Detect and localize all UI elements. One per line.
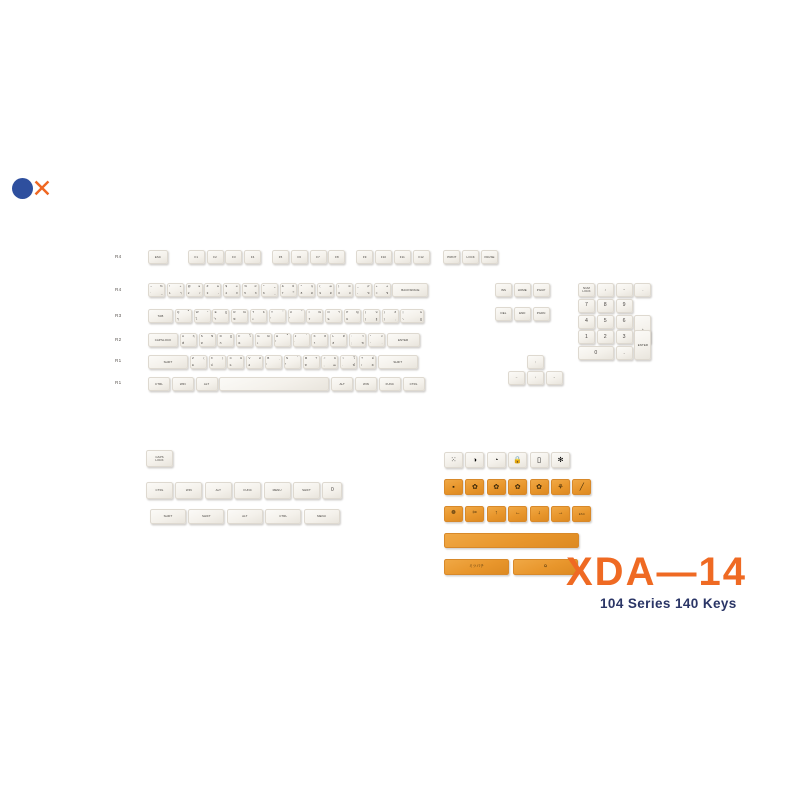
key-label: PGUP (537, 289, 546, 292)
key-numpad-4[interactable]: 4 (578, 315, 595, 329)
key-label: 🔒 (513, 457, 522, 464)
bee-dots-key[interactable]: ⁙ (444, 452, 463, 468)
esc-key[interactable]: ESC (572, 506, 591, 522)
row-profile-tag: R4 (115, 254, 121, 259)
key-legend-tl: A (182, 335, 184, 338)
key-label: SHIFT (164, 361, 173, 364)
key-`[interactable]: ~%`_ (148, 283, 165, 297)
key-n[interactable]: N์ื (284, 355, 301, 369)
key-legend-bl: อ (248, 364, 250, 367)
key-arrow-down[interactable]: ↓ (527, 371, 544, 385)
key-numpad-1[interactable]: 1 (578, 330, 595, 344)
key-legend-tl: N (286, 357, 288, 360)
key-numpad-5[interactable]: 5 (597, 315, 614, 329)
key-extra2-menu-4[interactable]: MENU (304, 509, 340, 524)
key-label: 3 (623, 335, 626, 340)
key-legend-br: _ (161, 292, 163, 295)
key-label: CTRL (410, 383, 418, 386)
key-ctrl[interactable]: CTRL (148, 377, 170, 391)
key-label: ESC (155, 256, 161, 259)
row-profile-tag: R1 (115, 380, 121, 385)
key-extra-ctrl[interactable]: CTRL (146, 482, 173, 499)
key-legend-tr: ? (316, 357, 318, 360)
key-m[interactable]: M?ท (303, 355, 320, 369)
key-extra-win[interactable]: WIN (175, 482, 202, 499)
key-label: F8 (335, 256, 339, 259)
key-legend-tr: บ (376, 311, 378, 314)
key-label: END (519, 312, 525, 315)
key-legend-tr: ( (203, 357, 204, 360)
key-legend-tl: { (365, 311, 366, 314)
key-legend-grid: J๋่ (294, 334, 309, 346)
wand-key[interactable]: ╱ (572, 479, 591, 495)
key-legend-bl: ร (309, 318, 311, 321)
key-g[interactable]: Gฌเ (255, 333, 272, 347)
key-numpad-*[interactable]: * (616, 283, 633, 297)
key-end[interactable]: END (514, 307, 531, 321)
key-f1[interactable]: F1 (188, 250, 205, 264)
key-f2[interactable]: F2 (207, 250, 224, 264)
key-label: → (553, 376, 556, 379)
key-label: ▯ (537, 457, 541, 464)
key-esc[interactable]: ESC (148, 250, 168, 264)
key-numpad-.[interactable]: . (616, 346, 633, 360)
key-label: 8 (604, 303, 607, 308)
key-extra-func[interactable]: FUNC (234, 482, 261, 499)
key-legend-br: ฬ (353, 364, 355, 367)
key-label: ✿ (493, 484, 499, 491)
key-legend-tr: ๓ (236, 285, 238, 288)
key-legend-grid: Aฤฟ (181, 334, 196, 346)
headphone-key[interactable]: ◔ (487, 452, 506, 468)
key-t[interactable]: Tธะ (250, 309, 267, 323)
key-numpad-3[interactable]: 3 (616, 330, 633, 344)
key-legend-grid: :ว;ซ (350, 334, 365, 346)
key-legend-br: / (199, 292, 200, 295)
key-legend-tr: ๔ (254, 285, 256, 288)
key-label: PAUSE (484, 256, 494, 259)
key-legend-tr: ง (381, 335, 382, 338)
row-profile-tag: R2 (115, 337, 121, 342)
key-label: F4 (251, 256, 255, 259)
key-}[interactable]: }ล], (382, 309, 399, 323)
key-o[interactable]: Oฯน (325, 309, 342, 323)
key-label: SHIFT (393, 361, 402, 364)
flower-key[interactable]: ✻ (551, 452, 570, 468)
key-label: F12 (418, 256, 423, 259)
key-legend-tr: ว (362, 335, 364, 338)
key-label: SHIFT (164, 515, 173, 518)
key-:[interactable]: :ว;ซ (349, 333, 366, 347)
key-legend-br: ฅ (372, 364, 374, 367)
key-ctrl[interactable]: CTRL (403, 377, 425, 391)
key-label: F2 (213, 256, 217, 259)
key-0[interactable]: )๘0จ (336, 283, 353, 297)
card-key[interactable]: ▯ (530, 452, 549, 468)
key-label: ENTER (398, 339, 408, 342)
key-label: ⁙ (451, 457, 457, 464)
key-4[interactable]: $๓4ภ (223, 283, 240, 297)
key-f5[interactable]: F5 (272, 250, 289, 264)
key-legend-tr: " (207, 311, 208, 314)
key-legend-bl: ๆ (177, 318, 179, 321)
bee-d-key[interactable]: ✿ (530, 479, 549, 495)
key-f11[interactable]: F11 (394, 250, 411, 264)
key-numpad--[interactable]: - (634, 283, 651, 297)
key-legend-grid: X)ป (210, 356, 225, 368)
key-label: F10 (381, 256, 386, 259)
key-legend-tl: K (314, 335, 316, 338)
key-8[interactable]: *๖8ค (298, 283, 315, 297)
key-label: ☸ (451, 511, 456, 517)
key-enter[interactable]: ENTER (387, 333, 420, 347)
key-legend-bl: ห (201, 342, 203, 345)
key-numpad-6[interactable]: 6 (616, 315, 633, 329)
key-"[interactable]: "ง'. (368, 333, 385, 347)
key-win[interactable]: WIN (172, 377, 194, 391)
key-legend-tl: X (211, 357, 213, 360)
key-extra-shift[interactable]: SHIFT (293, 482, 320, 499)
key-legend-bl: 7 (282, 292, 284, 295)
key-f10[interactable]: F10 (375, 250, 392, 264)
key-legend-br: - (218, 292, 219, 295)
key-legend-bl: ไ (196, 318, 198, 321)
key-k[interactable]: Kษา (311, 333, 328, 347)
key-legend-tr: ๑ (198, 285, 200, 288)
key-label: ✂ (473, 511, 478, 517)
key-9[interactable]: (๗9ต (317, 283, 334, 297)
row-profile-tag: R1 (115, 358, 121, 363)
key-3[interactable]: #๒3- (204, 283, 221, 297)
key-e[interactable]: Eฎำ (212, 309, 229, 323)
key-numpad-2[interactable]: 2 (597, 330, 614, 344)
key-arrow-left[interactable]: ← (508, 371, 525, 385)
key-legend-tr: ศ (343, 335, 345, 338)
key-numpad-enter[interactable]: ENTER (634, 330, 651, 360)
key-legend-tr: ฝ (372, 357, 374, 360)
arrow-down-key[interactable]: ↓ (530, 506, 549, 522)
key-legend-tl: ! (169, 285, 170, 288)
key-legend-bl: [ (365, 318, 366, 321)
key-legend-bl: 2 (188, 292, 190, 295)
page-title: XDA—14 (566, 552, 747, 592)
key-pgup[interactable]: PGUP (533, 283, 550, 297)
key-legend-tl: _ (357, 285, 359, 288)
key-legend-tl: H (276, 335, 278, 338)
key-legend-tl: * (301, 285, 302, 288)
key-legend-tr: ษ (324, 335, 326, 338)
bee-face-key[interactable]: ◑ (465, 452, 484, 468)
arrow-right-key[interactable]: → (551, 506, 570, 522)
key-legend-grid: $๓4ภ (224, 284, 239, 296)
key-legend-tl: P (346, 311, 348, 314)
key-shift-11[interactable]: SHIFT (378, 355, 418, 369)
key-label: ← (515, 511, 521, 517)
key-extra2-ctrl-3[interactable]: CTRL (265, 509, 301, 524)
key-label: 5 (604, 319, 607, 324)
key-legend-tr: ณ (243, 311, 246, 314)
key-legend-bl: ด (238, 342, 240, 345)
key-alt[interactable]: ALT (331, 377, 353, 391)
bee-a-key[interactable]: ✿ (465, 479, 484, 495)
key-extra2-shift-1[interactable]: SHIFT (188, 509, 224, 524)
key-legend-br: , (395, 318, 396, 321)
key-numpad-8[interactable]: 8 (597, 299, 614, 313)
key-legend-bl: ส (332, 342, 334, 345)
key-capslock[interactable]: CAPSLOCK (148, 333, 178, 347)
key-label: BACKSPACE (401, 289, 419, 292)
key-legend-tl: V (248, 357, 250, 360)
key-label: F11 (400, 256, 405, 259)
key-7[interactable]: &๕7ึ (280, 283, 297, 297)
key-legend-tr: ญ (356, 311, 359, 314)
key-h[interactable]: H็้ (274, 333, 291, 347)
key-legend-bl: 8 (301, 292, 303, 295)
key-legend-tl: R (233, 311, 235, 314)
key-numpad-num-lock[interactable]: NUMLOCK (578, 283, 595, 297)
key-extra2-shift-0[interactable]: SHIFT (150, 509, 186, 524)
key-legend-tl: Q (177, 311, 179, 314)
key-label: WIN (363, 383, 369, 386)
brand-logo: ✕ (8, 176, 68, 202)
key-legend-bl: 4 (225, 292, 227, 295)
key-label: CAPSLOCK (155, 339, 172, 342)
key-label: 4 (585, 319, 588, 324)
key-a[interactable]: Aฤฟ (180, 333, 197, 347)
key-legend-tr: ๙ (367, 285, 369, 288)
key-q[interactable]: Q็ๆ (175, 309, 192, 323)
key-l[interactable]: Lศส (330, 333, 347, 347)
key-s[interactable]: Sฆห (199, 333, 216, 347)
key-extra2-alt-2[interactable]: ALT (227, 509, 263, 524)
key-legend-grid: Sฆห (200, 334, 215, 346)
logo-x-icon: ✕ (28, 176, 56, 202)
key-b[interactable]: Bฺิ (265, 355, 282, 369)
key-z[interactable]: Z(ผ (190, 355, 207, 369)
key-extra-menu[interactable]: MENU (264, 482, 291, 499)
key-legend-tr: ฤ (193, 335, 195, 338)
key-=[interactable]: +๐=ช (374, 283, 391, 297)
key-legend-bl: \ (403, 318, 404, 321)
key-1[interactable]: !+1ๅ (167, 283, 184, 297)
key-j[interactable]: J๋่ (293, 333, 310, 347)
key-legend-tl: L (332, 335, 334, 338)
key-|[interactable]: |ฃ\ฏ (400, 309, 424, 323)
key->[interactable]: >ใ.ฬ (340, 355, 357, 369)
key-label: INS (501, 289, 506, 292)
key-numpad-7[interactable]: 7 (578, 299, 595, 313)
key-legend-tr: ๐ (386, 285, 388, 288)
key-legend-bl: / (361, 364, 362, 367)
key-legend-grid: %๔5ถ (243, 284, 258, 296)
key-legend-tr: ฯ (338, 311, 340, 314)
key-label: NUMLOCK (582, 287, 590, 293)
key-legend-tl: B (267, 357, 269, 360)
key-legend-grid: Bฺิ (266, 356, 281, 368)
key-legend-grid: Kษา (312, 334, 327, 346)
key-v[interactable]: Vฮอ (246, 355, 263, 369)
key-legend-br: ฐ (376, 318, 378, 321)
key-legend-grid: Yํั (270, 310, 285, 322)
key-f7[interactable]: F7 (310, 250, 327, 264)
shield-key[interactable]: ⚘ (551, 479, 570, 495)
key-f9[interactable]: F9 (356, 250, 373, 264)
key-label: ALT (339, 383, 344, 386)
spacebar[interactable] (219, 377, 329, 391)
key-label: F7 (316, 256, 320, 259)
key-legend-bl: - (357, 292, 358, 295)
key-label: - (642, 289, 643, 292)
key-legend-bl: 6 (263, 292, 265, 295)
key-label: F3 (232, 256, 236, 259)
key-pgdn[interactable]: PGDN (533, 307, 550, 321)
key-label: F1 (195, 256, 199, 259)
key-label: ⚘ (557, 484, 563, 491)
key-legend-tl: $ (225, 285, 227, 288)
key-2[interactable]: @๑2/ (186, 283, 203, 297)
key-win[interactable]: WIN (355, 377, 377, 391)
key-label: ALT (216, 489, 221, 492)
key-i[interactable]: Iณร (306, 309, 323, 323)
key-legend-br: ซ (362, 342, 364, 345)
key-legend-grid: Z(ผ (191, 356, 206, 368)
key-legend-tl: + (376, 285, 378, 288)
key-extra-alt[interactable]: ALT (205, 482, 232, 499)
key-legend-br: . (382, 342, 383, 345)
key-f6[interactable]: F6 (291, 250, 308, 264)
key-legend-br: ๅ (180, 292, 181, 295)
key-ins[interactable]: INS (495, 283, 512, 297)
key-legend-bl: ; (351, 342, 352, 345)
key-numpad-0[interactable]: 0 (578, 346, 614, 360)
arrow-up-key[interactable]: ↑ (487, 506, 506, 522)
lock-key[interactable]: 🔒 (508, 452, 527, 468)
key-x[interactable]: X)ป (209, 355, 226, 369)
key-legend-tr: โ (249, 335, 251, 338)
key-legend-bl: ` (150, 292, 151, 295)
key-shift-0[interactable]: SHIFT (148, 355, 188, 369)
key-legend-br: จ (349, 292, 351, 295)
key-legend-br: ต (330, 292, 332, 295)
key-label: ENTER (638, 344, 648, 347)
key-backspace[interactable]: BACKSPACE (392, 283, 428, 297)
key-legend-bl: ผ (192, 364, 194, 367)
key-legend-tl: < (324, 357, 326, 360)
key-label: FUNC (243, 489, 251, 492)
key-numpad-9[interactable]: 9 (616, 299, 633, 313)
key-print[interactable]: PRINT (443, 250, 460, 264)
key-d[interactable]: Dฏก (217, 333, 234, 347)
key-legend-tr: ฮ (259, 357, 261, 360)
key-legend-bl: แ (230, 364, 232, 367)
key-legend-grid: Pญย (345, 310, 360, 322)
key-r[interactable]: Rณพ (231, 309, 248, 323)
key-legend-tl: T (252, 311, 254, 314)
key-lock[interactable]: LOCK (462, 250, 479, 264)
key-legend-bl: 1 (169, 292, 171, 295)
key-legend-bl: ท (305, 364, 307, 367)
key-f8[interactable]: F8 (328, 250, 345, 264)
key-arrow-up[interactable]: ↑ (527, 355, 544, 369)
key-legend-br: ถ (255, 292, 257, 295)
key-legend-grid: {บ[ฐ (364, 310, 379, 322)
key-arrow-right[interactable]: → (546, 371, 563, 385)
key-f4[interactable]: F4 (244, 250, 261, 264)
key-f3[interactable]: F3 (225, 250, 242, 264)
key-label: TAB (158, 315, 164, 318)
key-extra-0[interactable]: 0 (322, 482, 342, 499)
key-legend-tl: O (327, 311, 329, 314)
key-label: LOCK (467, 256, 475, 259)
key--[interactable]: _๙-ข (355, 283, 372, 297)
squares-key[interactable]: ▪ (444, 479, 463, 495)
key-legend-grid: Cฉแ (228, 356, 243, 368)
key-home[interactable]: HOME (514, 283, 531, 297)
arrow-left-key[interactable]: ← (508, 506, 527, 522)
bee-c-key[interactable]: ✿ (508, 479, 527, 495)
mitsubachi-key[interactable]: ミツバチ (444, 559, 509, 575)
key-legend-grid: _๙-ข (356, 284, 371, 296)
key-legend-grid: Fโด (237, 334, 252, 346)
key-label: F9 (363, 256, 367, 259)
key-y[interactable]: Yํั (269, 309, 286, 323)
key-legend-tr: ใ (353, 357, 354, 360)
key-legend-bl: , (324, 364, 325, 367)
key-<[interactable]: <ม,ฒ (321, 355, 338, 369)
key-label: CTRL (156, 489, 164, 492)
key-legend-grid: @๑2/ (187, 284, 202, 296)
bee-b-key[interactable]: ✿ (487, 479, 506, 495)
novelty-spacebar[interactable] (444, 533, 579, 548)
key-label: ← (515, 376, 518, 379)
key-p[interactable]: Pญย (344, 309, 361, 323)
key-del[interactable]: DEL (495, 307, 512, 321)
key-5[interactable]: %๔5ถ (242, 283, 259, 297)
key-{[interactable]: {บ[ฐ (363, 309, 380, 323)
key-numpad-/[interactable]: / (597, 283, 614, 297)
key-legend-grid: "ง'. (369, 334, 384, 346)
key-w[interactable]: W"ไ (194, 309, 211, 323)
key-legend-tl: ( (319, 285, 320, 288)
scissors-key[interactable]: ✂ (465, 506, 484, 522)
key-legend-grid: W"ไ (195, 310, 210, 322)
key-f12[interactable]: F12 (413, 250, 430, 264)
key-legend-tr: ฉ (240, 357, 242, 360)
key-caps-lock-extra[interactable]: CAPSLOCK (146, 450, 173, 467)
key-alt[interactable]: ALT (196, 377, 218, 391)
key-func[interactable]: FUNC (379, 377, 401, 391)
key-?[interactable]: ?ฝ/ฅ (359, 355, 376, 369)
key-tab[interactable]: TAB (148, 309, 173, 323)
key-pause[interactable]: PAUSE (481, 250, 498, 264)
key-legend-tl: ) (338, 285, 339, 288)
key-6[interactable]: ^ู6ุ (261, 283, 278, 297)
key-legend-tl: U (290, 311, 292, 314)
key-label: 1 (585, 335, 588, 340)
key-label: FUNC (386, 383, 394, 386)
key-f[interactable]: Fโด (236, 333, 253, 347)
honeycomb-key[interactable]: ☸ (444, 506, 463, 522)
key-label: → (558, 511, 564, 517)
key-legend-grid: #๒3- (205, 284, 220, 296)
key-label: ◔ (494, 457, 498, 464)
product-title-block: XDA—14 104 Series 140 Keys (566, 552, 747, 611)
key-legend-bl: ก (220, 342, 222, 345)
key-legend-bl: พ (233, 318, 235, 321)
key-c[interactable]: Cฉแ (227, 355, 244, 369)
key-legend-grid: <ม,ฒ (322, 356, 337, 368)
key-u[interactable]: U๊ี (288, 309, 305, 323)
